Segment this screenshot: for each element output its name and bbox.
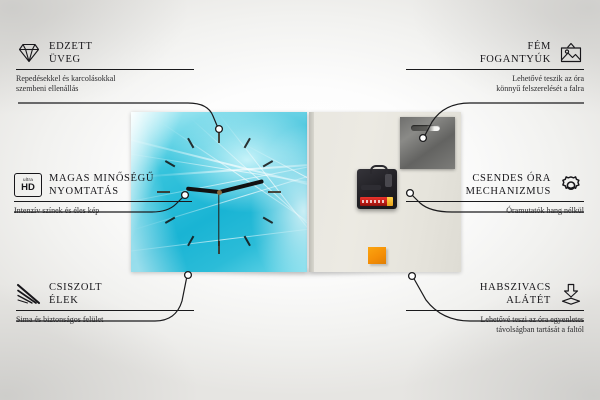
feature-quiet-mechanism: CSENDES ÓRA MECHANIZMUS Óramutatók hang …: [406, 172, 584, 216]
feature-title: FÉM FOGANTYÚK: [480, 40, 551, 66]
feature-title: MAGAS MINŐSÉGŰ NYOMTATÁS: [49, 172, 154, 198]
feature-divider: [14, 201, 192, 202]
infographic-canvas: EDZETT ÜVEG Repedésekkel és karcolásokka…: [0, 0, 600, 400]
feature-tempered-glass: EDZETT ÜVEG Repedésekkel és karcolásokka…: [16, 40, 194, 95]
feature-description: Lehetővé teszik az óra könnyű felszerelé…: [406, 74, 584, 95]
polished-edges-icon: [16, 282, 42, 306]
product-shadow: [150, 271, 450, 287]
clock-center-cap: [217, 190, 222, 195]
feature-divider: [406, 69, 584, 70]
metal-hanger: [400, 117, 455, 169]
feature-metal-handles: FÉM FOGANTYÚK Lehetővé teszik az óra kön…: [406, 40, 584, 95]
ultra-hd-icon: ultra HD: [14, 173, 42, 197]
feature-divider: [16, 69, 194, 70]
foam-spacer-pad: [368, 247, 386, 264]
clock-tick-12: [218, 130, 220, 192]
battery-positive-tip: [387, 197, 393, 206]
feature-divider: [406, 310, 584, 311]
mechanism-hanging-loop: [370, 165, 388, 174]
feature-description: Repedésekkel és karcolásokkal szembeni e…: [16, 74, 194, 95]
battery: [360, 197, 393, 206]
feature-title: CSISZOLT ÉLEK: [49, 281, 102, 307]
foam-pad-icon: [558, 282, 584, 306]
diamond-icon: [16, 41, 42, 65]
feature-high-quality-print: ultra HD MAGAS MINŐSÉGŰ NYOMTATÁS Intenz…: [14, 172, 192, 216]
mechanism-time-dial: [385, 174, 392, 187]
feature-title: EDZETT ÜVEG: [49, 40, 93, 66]
feature-description: Óramutatók hang nélkül: [406, 206, 584, 217]
hanger-slot: [411, 125, 440, 131]
feature-polished-edges: CSISZOLT ÉLEK Sima és biztonságos felüle…: [16, 281, 194, 325]
clock-side-edge: [309, 112, 314, 272]
picture-hanger-icon: [558, 41, 584, 65]
mechanism-groove: [361, 185, 381, 190]
feature-divider: [16, 310, 194, 311]
gear-icon: [558, 173, 584, 197]
feature-description: Intenzív színek és éles kép: [14, 206, 192, 217]
feature-foam-pad: HABSZIVACS ALÁTÉT Lehetővé teszi az óra …: [406, 281, 584, 336]
feature-description: Lehetővé teszi az óra egyenletes távolsá…: [406, 315, 584, 336]
feature-title: HABSZIVACS ALÁTÉT: [480, 281, 551, 307]
battery-label: [362, 200, 384, 203]
feature-divider: [406, 201, 584, 202]
feature-description: Sima és biztonságos felület: [16, 315, 194, 326]
feature-title: CSENDES ÓRA MECHANIZMUS: [466, 172, 551, 198]
clock-mechanism: [357, 169, 397, 209]
